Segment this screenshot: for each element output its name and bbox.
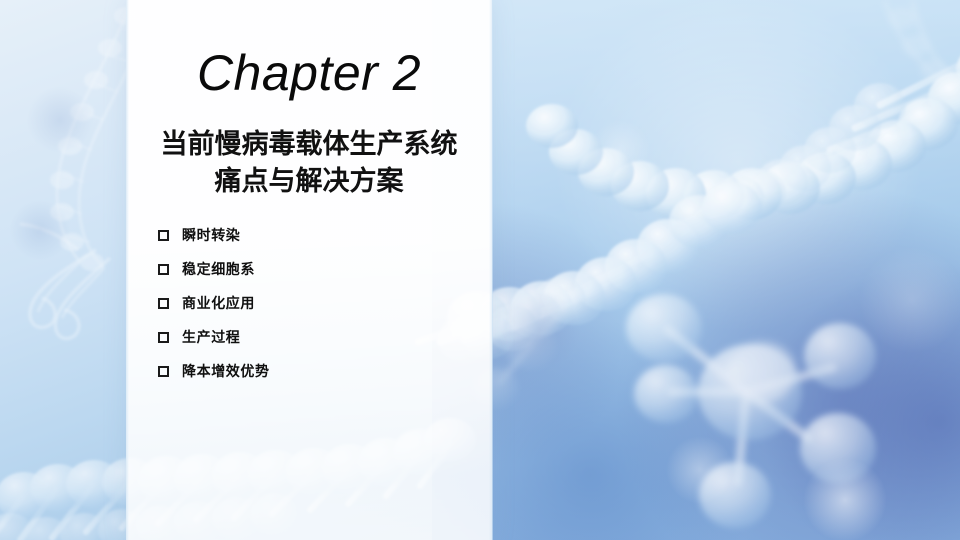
slide-content: Chapter 2 当前慢病毒载体生产系统 痛点与解决方案 瞬时转染 稳定细胞系… <box>126 0 492 540</box>
hollow-square-icon <box>158 264 169 275</box>
chapter-title: Chapter 2 <box>126 46 492 101</box>
slide-canvas: Chapter 2 当前慢病毒载体生产系统 痛点与解决方案 瞬时转染 稳定细胞系… <box>0 0 960 540</box>
list-item-label: 降本增效优势 <box>182 361 270 381</box>
hollow-square-icon <box>158 230 169 241</box>
list-item-label: 商业化应用 <box>182 293 255 313</box>
list-item[interactable]: 瞬时转染 <box>158 218 478 252</box>
hollow-square-icon <box>158 298 169 309</box>
subtitle-line-2: 痛点与解决方案 <box>126 163 492 200</box>
list-item-label: 瞬时转染 <box>182 225 240 245</box>
list-item[interactable]: 生产过程 <box>158 320 478 354</box>
hollow-square-icon <box>158 332 169 343</box>
list-item[interactable]: 商业化应用 <box>158 286 478 320</box>
slide-subtitle: 当前慢病毒载体生产系统 痛点与解决方案 <box>126 126 492 201</box>
subtitle-line-1: 当前慢病毒载体生产系统 <box>126 126 492 163</box>
list-item-label: 稳定细胞系 <box>182 259 255 279</box>
agenda-list: 瞬时转染 稳定细胞系 商业化应用 生产过程 降本增效优势 <box>158 218 478 388</box>
list-item-label: 生产过程 <box>182 327 240 347</box>
list-item[interactable]: 稳定细胞系 <box>158 252 478 286</box>
hollow-square-icon <box>158 366 169 377</box>
list-item[interactable]: 降本增效优势 <box>158 354 478 388</box>
